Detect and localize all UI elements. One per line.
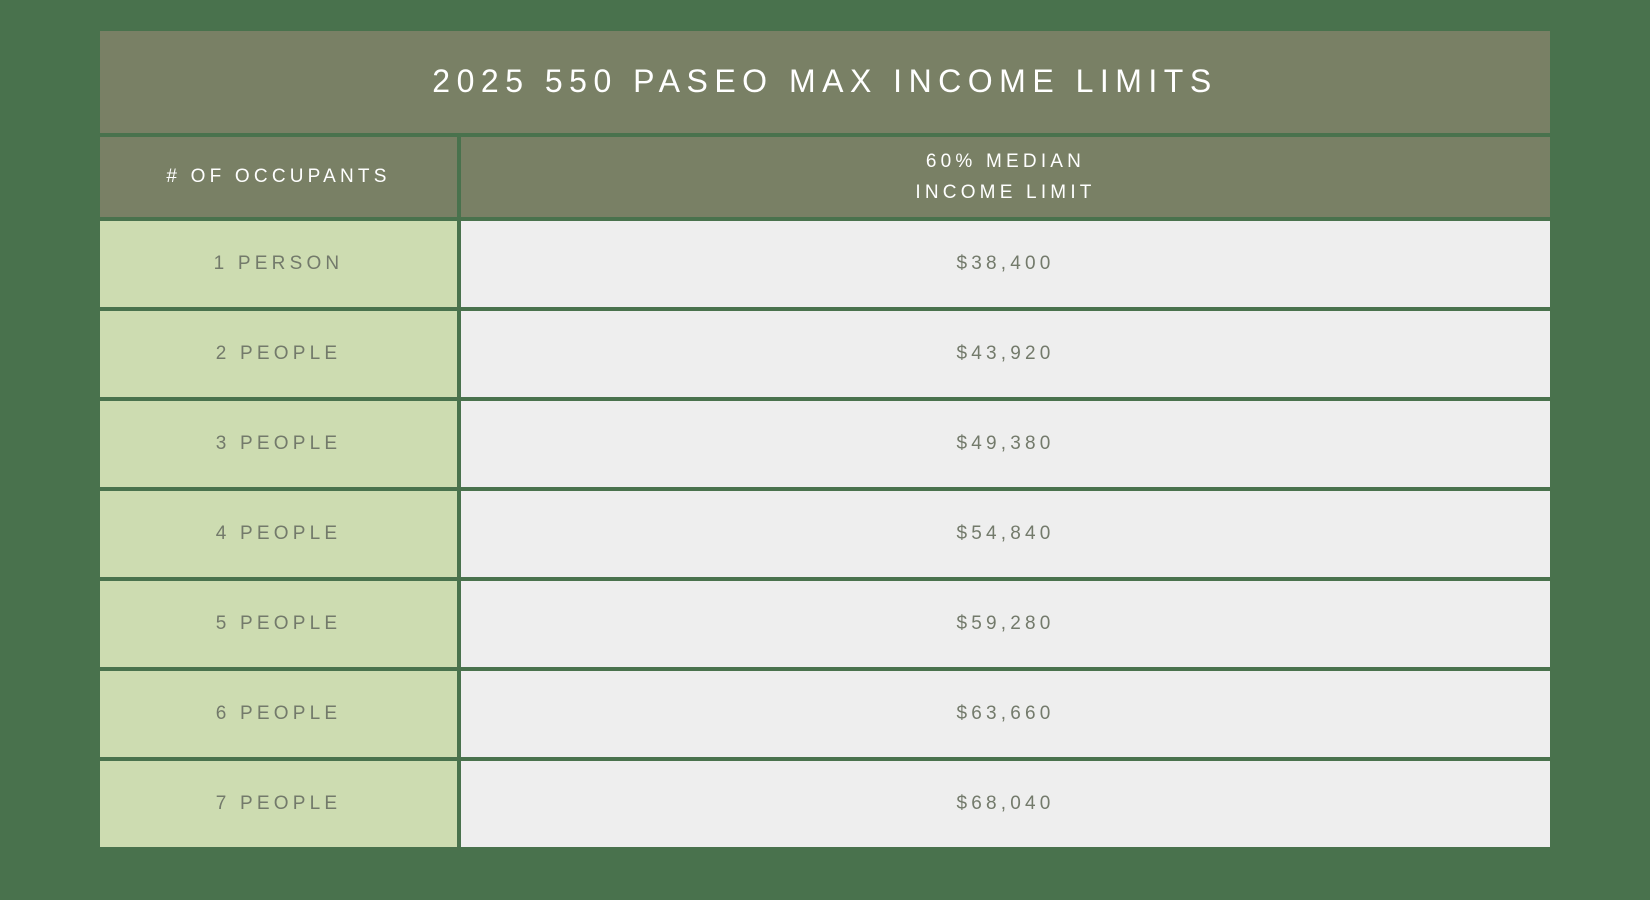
cell-income-limit-value: $43,920 [956,342,1054,367]
cell-income-limit: $68,040 [461,761,1550,847]
cell-income-limit: $43,920 [461,311,1550,397]
cell-occupants-label: 3 People [216,432,341,457]
column-header-occupants-label: # of Occupants [166,161,390,192]
cell-income-limit: $59,280 [461,581,1550,667]
page-root: 2025 550 Paseo Max Income Limits # of Oc… [0,0,1650,900]
table-row: 1 Person $38,400 [100,221,1550,307]
column-header-income-limit-label: 60% Median Income Limit [915,146,1095,209]
cell-occupants: 4 People [100,491,457,577]
cell-occupants-label: 7 People [216,792,341,817]
cell-income-limit-value: $38,400 [956,252,1054,277]
column-header-occupants: # of Occupants [100,137,457,217]
column-header-income-limit-line1: 60% Median [926,151,1085,172]
table-header-row: # of Occupants 60% Median Income Limit [100,137,1550,217]
cell-occupants-label: 5 People [216,612,341,637]
cell-income-limit: $54,840 [461,491,1550,577]
cell-occupants: 6 People [100,671,457,757]
cell-income-limit: $49,380 [461,401,1550,487]
cell-income-limit: $38,400 [461,221,1550,307]
cell-occupants-label: 6 People [216,702,341,727]
table-row: 6 People $63,660 [100,671,1550,757]
cell-occupants: 3 People [100,401,457,487]
table-row: 4 People $54,840 [100,491,1550,577]
table-title-band: 2025 550 Paseo Max Income Limits [100,31,1550,133]
income-limits-table: 2025 550 Paseo Max Income Limits # of Oc… [100,31,1550,863]
page-title: 2025 550 Paseo Max Income Limits [432,64,1217,99]
cell-occupants: 5 People [100,581,457,667]
column-header-income-limit-line2: Income Limit [915,182,1095,203]
cell-income-limit-value: $49,380 [956,432,1054,457]
cell-income-limit-value: $63,660 [956,702,1054,727]
cell-income-limit-value: $54,840 [956,522,1054,547]
cell-occupants-label: 4 People [216,522,341,547]
cell-income-limit-value: $68,040 [956,792,1054,817]
table-row: 3 People $49,380 [100,401,1550,487]
cell-occupants-label: 1 Person [214,252,344,277]
cell-occupants: 2 People [100,311,457,397]
cell-income-limit-value: $59,280 [956,612,1054,637]
table-row: 7 People $68,040 [100,761,1550,847]
cell-occupants-label: 2 People [216,342,341,367]
column-header-income-limit: 60% Median Income Limit [461,137,1550,217]
table-row: 2 People $43,920 [100,311,1550,397]
cell-occupants: 7 People [100,761,457,847]
cell-income-limit: $63,660 [461,671,1550,757]
table-row: 5 People $59,280 [100,581,1550,667]
cell-occupants: 1 Person [100,221,457,307]
